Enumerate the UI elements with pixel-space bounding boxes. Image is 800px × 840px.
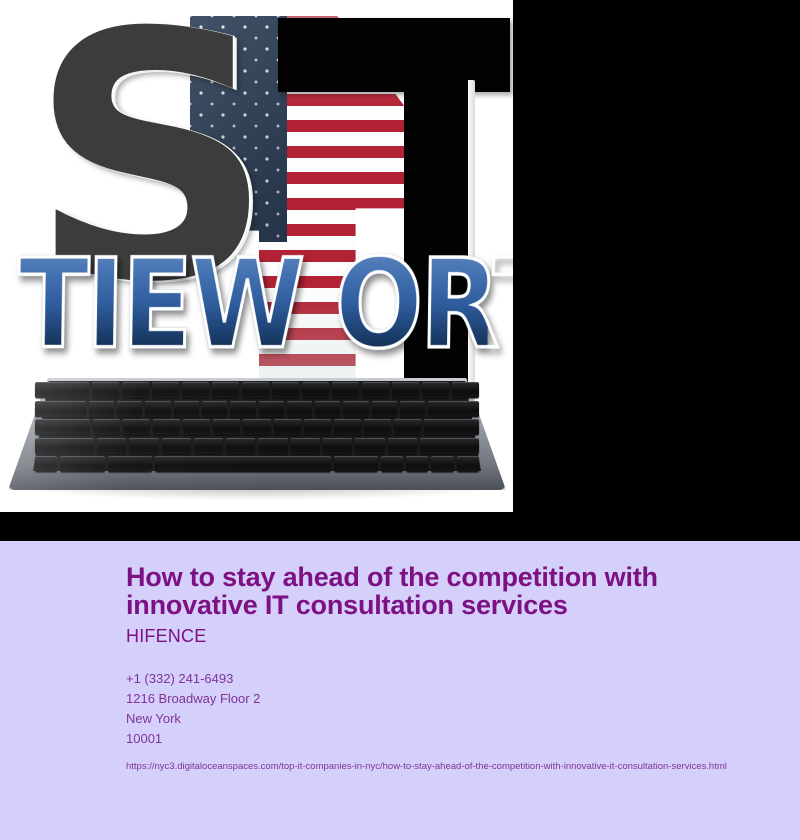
article-info-panel: How to stay ahead of the competition wit…: [0, 541, 800, 840]
keyboard-row: [35, 419, 478, 435]
contact-city: New York: [126, 709, 786, 729]
article-card-page: S TIEW ORT: [0, 0, 800, 840]
article-title: How to stay ahead of the competition wit…: [126, 563, 692, 619]
keyboard-illustration: [8, 378, 506, 490]
keyboard-key-rows: [35, 382, 478, 470]
article-info-inner: How to stay ahead of the competition wit…: [126, 563, 786, 778]
hero-image-band: S TIEW ORT: [0, 0, 800, 541]
contact-zip: 10001: [126, 729, 786, 749]
contact-block: +1 (332) 241-6493 1216 Broadway Floor 2 …: [126, 669, 786, 749]
keyboard-row: [35, 382, 478, 398]
hero-photo-canvas: S TIEW ORT: [0, 0, 513, 512]
contact-phone[interactable]: +1 (332) 241-6493: [126, 669, 786, 689]
source-url-link[interactable]: https://nyc3.digitaloceanspaces.com/top-…: [126, 755, 786, 778]
brand-name: HIFENCE: [126, 625, 786, 647]
hero-overlay-word: TIEW ORT: [17, 232, 489, 385]
keyboard-row: [35, 438, 478, 454]
contact-street: 1216 Broadway Floor 2: [126, 689, 786, 709]
keyboard-row: [35, 456, 478, 472]
keyboard-row: [35, 401, 478, 417]
